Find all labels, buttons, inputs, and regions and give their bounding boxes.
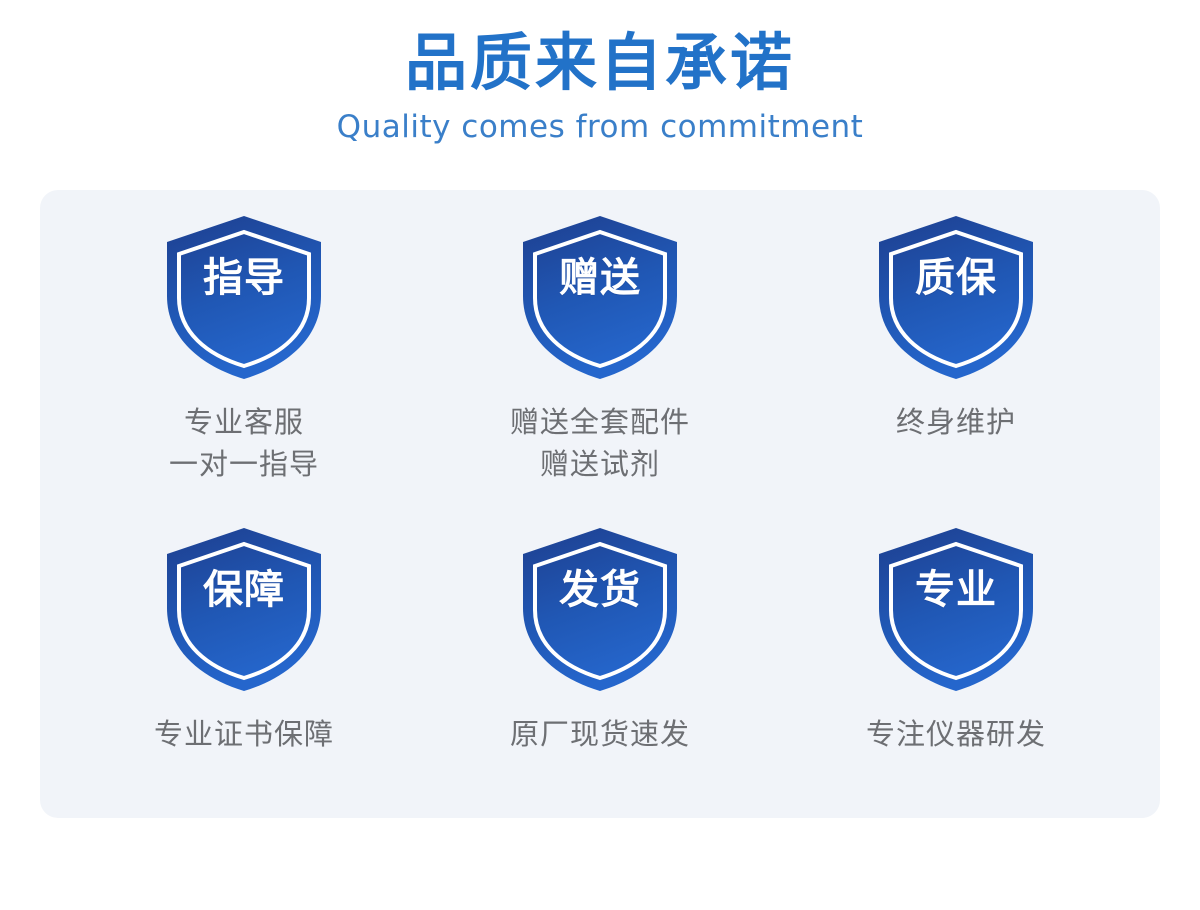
features-grid: 指导 专业客服 一对一指导 [40,190,1160,818]
feature-caption: 专业客服 一对一指导 [169,402,319,486]
badge-label: 赠送 [519,258,681,298]
feature-caption: 赠送全套配件 赠送试剂 [510,402,690,486]
page-title: 品质来自承诺 [0,28,1200,99]
feature-item-3: 质保 终身维护 [778,212,1134,510]
shield-icon: 保障 [163,524,325,694]
page-subtitle: Quality comes from commitment [0,109,1200,146]
shield-icon: 发货 [519,524,681,694]
feature-item-6: 专业 专注仪器研发 [778,510,1134,808]
features-card: 指导 专业客服 一对一指导 [40,190,1160,818]
feature-caption: 终身维护 [896,402,1016,444]
feature-item-1: 指导 专业客服 一对一指导 [66,212,422,510]
badge-label: 质保 [875,258,1037,298]
shield-icon: 赠送 [519,212,681,382]
feature-item-5: 发货 原厂现货速发 [422,510,778,808]
badge-label: 专业 [875,570,1037,610]
feature-caption: 专注仪器研发 [866,714,1046,756]
feature-item-4: 保障 专业证书保障 [66,510,422,808]
badge-label: 发货 [519,570,681,610]
feature-caption: 专业证书保障 [154,714,334,756]
page-header: 品质来自承诺 Quality comes from commitment [0,0,1200,146]
feature-item-2: 赠送 赠送全套配件 赠送试剂 [422,212,778,510]
badge-label: 保障 [163,570,325,610]
shield-icon: 指导 [163,212,325,382]
badge-label: 指导 [163,258,325,298]
promo-page: 品质来自承诺 Quality comes from commitment [0,0,1200,910]
feature-caption: 原厂现货速发 [510,714,690,756]
shield-icon: 专业 [875,524,1037,694]
shield-icon: 质保 [875,212,1037,382]
